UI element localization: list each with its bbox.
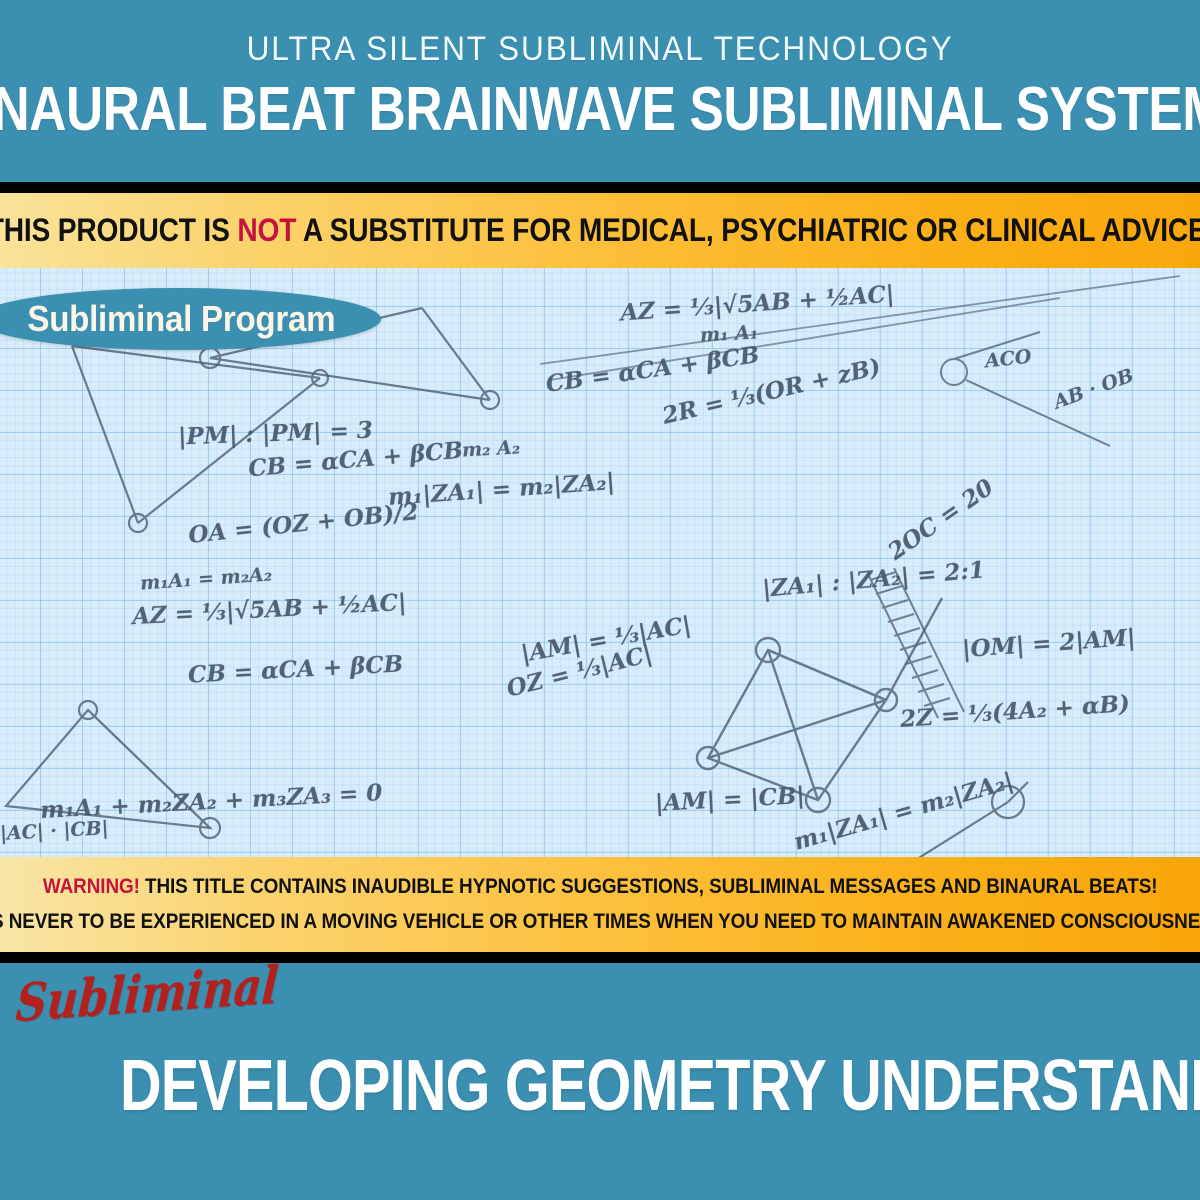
warning-line-1-rest: THIS TITLE CONTAINS INAUDIBLE HYPNOTIC S… — [140, 875, 1158, 898]
footer-band: Subliminal DEVELOPING GEOMETRY UNDERSTAN… — [0, 963, 1200, 1200]
header-brand-title: BINAURAL BEAT BRAINWAVE SUBLIMINAL SYSTE… — [0, 77, 1200, 142]
ink-note: OZ = ⅓|AC| — [504, 640, 655, 702]
ink-note: AZ = ¹⁄₃|√5AB + ½AC| — [619, 280, 895, 326]
geometry-figure-long-rule — [540, 268, 1200, 388]
geometry-figure-parallelogram — [690, 588, 990, 828]
medical-disclaimer-band: THIS PRODUCT IS NOT A SUBSTITUTE FOR MED… — [0, 193, 1200, 268]
medical-disclaimer-text: THIS PRODUCT IS NOT A SUBSTITUTE FOR MED… — [0, 212, 1200, 249]
subliminal-script-wordmark: Subliminal — [14, 955, 280, 1034]
ink-note: 2Z = ⅓(4A₂ + αB) — [899, 690, 1130, 733]
ink-note: AB · OB — [1051, 364, 1137, 413]
ink-note: |AM| = |CB| — [654, 782, 805, 817]
divider-top — [0, 182, 1200, 193]
ink-note: ACO — [984, 346, 1032, 373]
ink-note: |ZA₁| : |ZA₂| = 2:1 — [761, 556, 986, 602]
geometry-figure-compass-right — [880, 768, 1100, 857]
badge-label: Subliminal Program — [27, 298, 335, 340]
disclaimer-before: THIS PRODUCT IS — [0, 212, 237, 248]
ink-note: CB = αCA + βCB — [247, 437, 464, 483]
album-cover: ULTRA SILENT SUBLIMINAL TECHNOLOGY BINAU… — [0, 0, 1200, 1200]
ink-note: m₁|ZA₁| = m₂|ZA₂| — [791, 767, 1017, 856]
ink-note: 2OC = 20 — [883, 474, 998, 566]
ink-note: CB = αCA + βCB — [187, 650, 403, 688]
disclaimer-highlight-not: NOT — [237, 212, 296, 248]
album-title: DEVELOPING GEOMETRY UNDERSTANDINGS and S… — [120, 1045, 1080, 1127]
warning-line-2: IT'S NEVER TO BE EXPERIENCED IN A MOVING… — [0, 911, 1200, 933]
geometry-figure-hatched-band — [860, 568, 990, 728]
ink-note: m₁ A₁ — [699, 321, 758, 346]
ink-note: m₁A₁ + m₂ZA₂ + m₃ZA₃ = 0 — [40, 779, 383, 824]
hypnotic-warning-band: WARNING! THIS TITLE CONTAINS INAUDIBLE H… — [0, 857, 1200, 952]
ink-note: |AC| · |CB| — [0, 817, 109, 845]
warning-line-1: WARNING! THIS TITLE CONTAINS INAUDIBLE H… — [43, 876, 1158, 898]
ink-note: m₁A₁ = m₂A₂ — [139, 563, 272, 594]
ink-note: |AM| = ⅓|AC| — [519, 611, 693, 667]
ink-note: |PM| : |PM| = 3 — [178, 417, 374, 451]
geometry-figure-triangle-left — [20, 338, 340, 538]
ink-note: |OM| = 2|AM| — [961, 624, 1136, 663]
ink-note: CB = αCA + βCB — [544, 341, 761, 398]
graph-paper-artwork: AZ = ¹⁄₃|√5AB + ½AC|m₁ A₁CB = αCA + βCB2… — [0, 268, 1200, 857]
top-header-band: ULTRA SILENT SUBLIMINAL TECHNOLOGY BINAU… — [0, 0, 1200, 182]
geometry-figure-triangle-lower-left — [0, 688, 260, 857]
disclaimer-after: A SUBSTITUTE FOR MEDICAL, PSYCHIATRIC OR… — [296, 212, 1200, 248]
ink-note: m₂ A₂ — [461, 436, 520, 461]
album-title-main: DEVELOPING GEOMETRY UNDERSTANDINGS — [120, 1046, 1200, 1126]
ink-note: m₁|ZA₁| = m₂|ZA₂| — [387, 468, 615, 511]
ink-note: OA = (OZ + OB)/2 — [187, 498, 419, 549]
ink-note: 2R = ⅓(OR + zB) — [660, 353, 883, 429]
ink-note: AZ = ¹⁄₃|√5AB + ½AC| — [131, 589, 407, 630]
header-eyebrow: ULTRA SILENT SUBLIMINAL TECHNOLOGY — [247, 30, 954, 69]
warning-keyword: WARNING! — [43, 875, 140, 898]
geometry-figure-node-upper-right — [900, 328, 1130, 458]
